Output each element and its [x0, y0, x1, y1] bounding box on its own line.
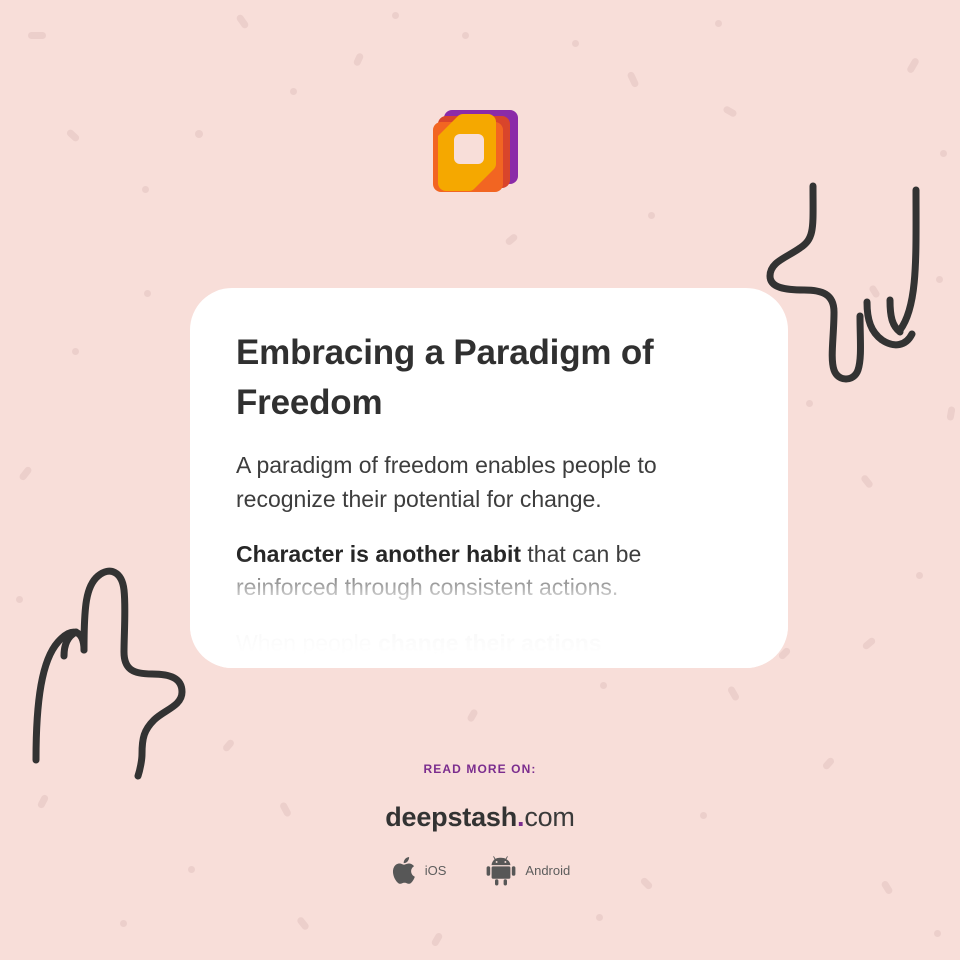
confetti-dash	[222, 738, 236, 752]
confetti-dash	[806, 400, 813, 407]
confetti-dash	[430, 932, 443, 948]
hand-up-illustration	[24, 560, 204, 780]
confetti-dash	[861, 636, 876, 650]
confetti-dash	[715, 20, 722, 27]
brand-tld: com	[524, 802, 574, 832]
confetti-dash	[860, 474, 874, 489]
confetti-dash	[906, 57, 920, 74]
idea-card-content: Embracing a Paradigm of Freedom A paradi…	[190, 288, 788, 660]
logo-icon	[428, 104, 524, 200]
hand-up-index-finger	[84, 571, 182, 776]
deepstash-logo	[428, 104, 524, 200]
card-paragraph-3: When people change their actions	[236, 627, 742, 660]
page-title: Embracing a Paradigm of Freedom	[236, 328, 742, 427]
confetti-dash	[296, 916, 310, 931]
confetti-dash	[596, 914, 603, 921]
confetti-dash	[572, 40, 579, 47]
hand-up-finger-2	[64, 632, 76, 656]
hand-pointing-up-icon	[24, 560, 204, 780]
confetti-dash	[353, 52, 365, 67]
confetti-dash	[936, 276, 943, 283]
idea-card: Embracing a Paradigm of Freedom A paradi…	[190, 288, 788, 668]
apple-icon	[390, 855, 416, 886]
confetti-dash	[120, 920, 127, 927]
brand-name: deepstash	[385, 802, 517, 832]
confetti-dash	[462, 32, 469, 39]
confetti-dash	[235, 13, 249, 29]
hand-pointing-down-icon	[760, 176, 960, 396]
confetti-dash	[504, 233, 518, 247]
confetti-dash	[868, 284, 881, 299]
confetti-dash	[722, 105, 738, 118]
card-paragraph-3-text: When people	[236, 630, 378, 656]
confetti-dash	[195, 130, 203, 138]
confetti-dash	[466, 708, 479, 723]
card-paragraph-1-text: A paradigm of freedom enables people to …	[236, 452, 657, 511]
android-store-link[interactable]: Android	[486, 855, 570, 886]
hand-up-thumb	[36, 632, 84, 760]
ios-store-link[interactable]: iOS	[390, 855, 447, 886]
confetti-dash	[142, 186, 149, 193]
android-label: Android	[525, 863, 570, 878]
card-paragraph-3-lead: change their actions	[378, 630, 602, 656]
confetti-dash	[144, 290, 151, 297]
ios-label: iOS	[425, 863, 447, 878]
confetti-dash	[940, 150, 947, 157]
confetti-dash	[600, 682, 607, 689]
confetti-dash	[648, 212, 655, 219]
card-paragraph-1: A paradigm of freedom enables people to …	[236, 449, 742, 516]
hand-down-finger-middle	[867, 302, 912, 345]
confetti-dash	[28, 32, 46, 39]
app-store-badges: iOS Android	[0, 855, 960, 886]
hand-down-finger-ring	[890, 300, 900, 332]
card-paragraph-2-lead: Character is another habit	[236, 541, 521, 567]
confetti-dash	[946, 406, 955, 421]
android-icon	[486, 855, 516, 886]
brand-wordmark[interactable]: deepstash.com	[0, 802, 960, 833]
confetti-dash	[16, 596, 23, 603]
logo-inner-cutout	[454, 134, 484, 164]
card-paragraph-2: Character is another habit that can be r…	[236, 538, 742, 605]
confetti-dash	[18, 465, 33, 481]
confetti-dash	[392, 12, 399, 19]
confetti-dash	[934, 930, 941, 937]
footer: READ MORE ON: deepstash.com iOS	[0, 762, 960, 886]
confetti-dash	[72, 348, 79, 355]
hand-down-thumb	[900, 190, 916, 330]
confetti-dash	[626, 71, 639, 88]
confetti-dash	[727, 685, 741, 701]
read-more-label: READ MORE ON:	[0, 762, 960, 776]
poster-canvas: Embracing a Paradigm of Freedom A paradi…	[0, 0, 960, 960]
confetti-dash	[290, 88, 297, 95]
confetti-dash	[65, 128, 80, 143]
hand-down-illustration	[760, 176, 960, 396]
confetti-dash	[916, 572, 923, 579]
